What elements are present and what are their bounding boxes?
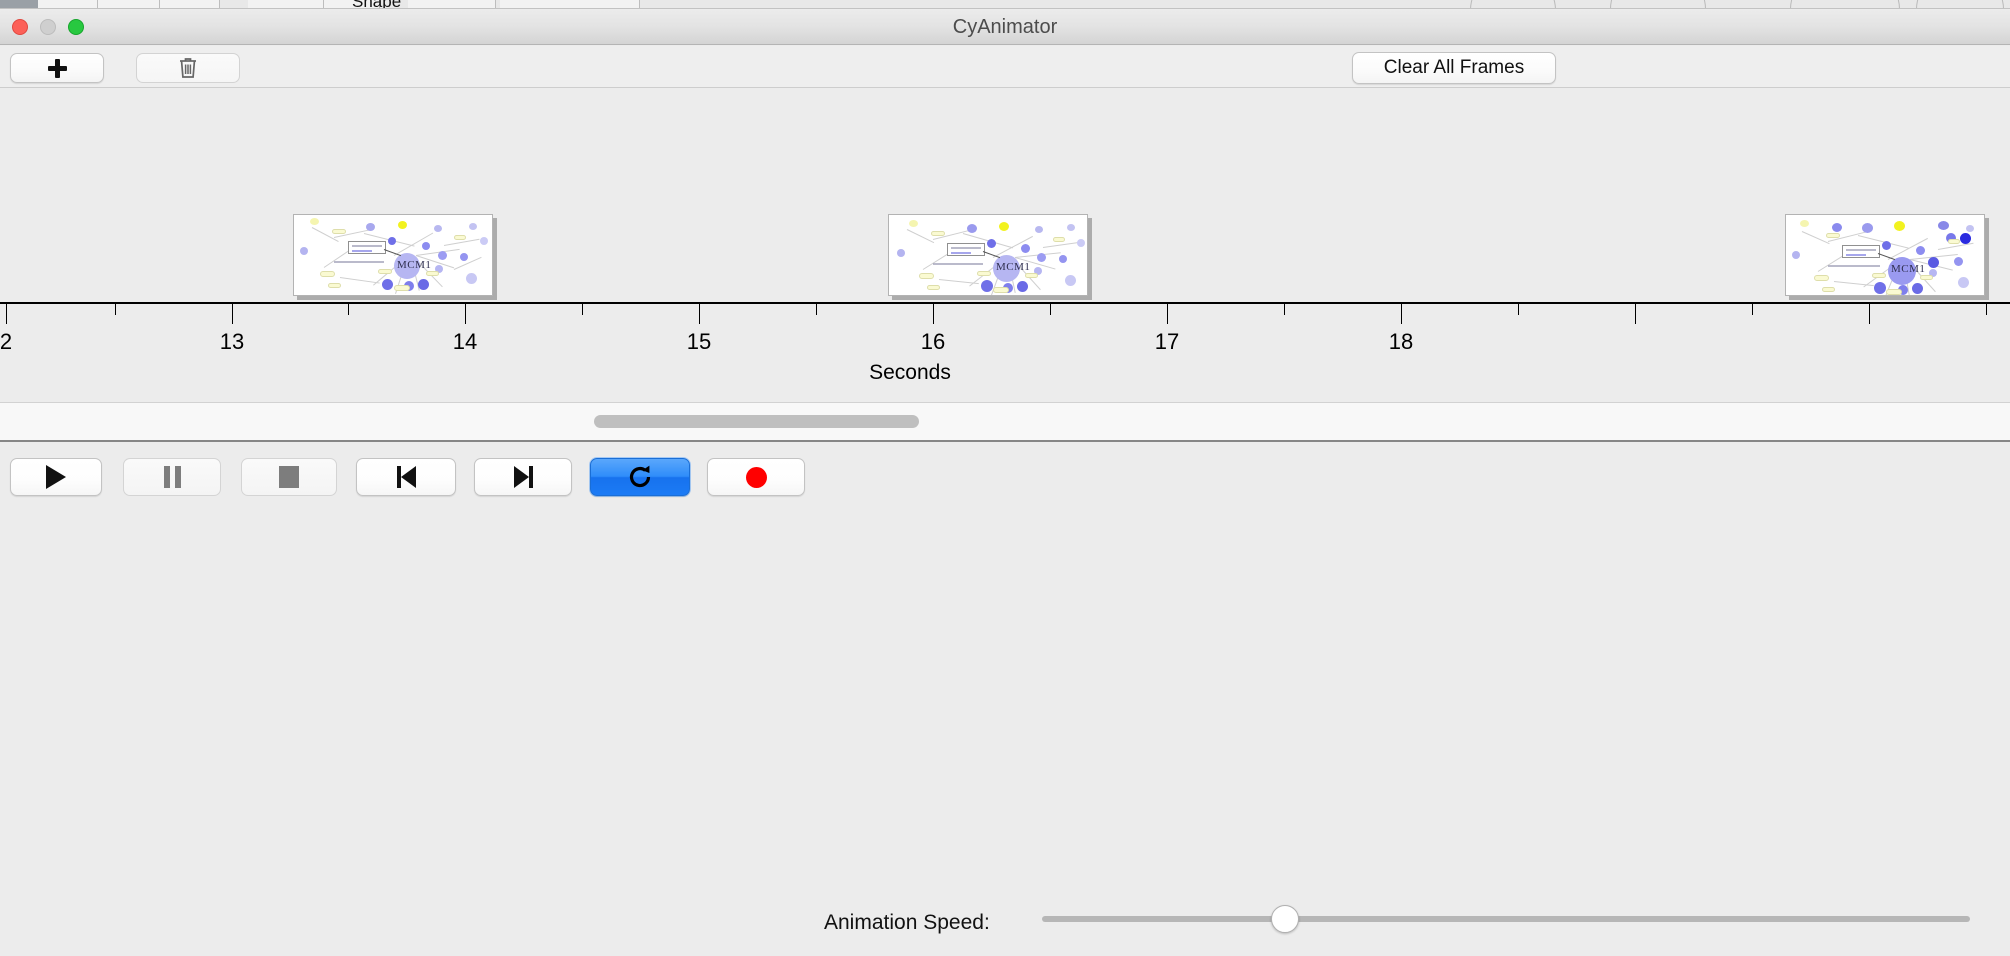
clear-all-frames-label: Clear All Frames <box>1384 57 1524 79</box>
timeline-scrollbar-track[interactable] <box>0 402 2010 442</box>
axis-tick-minor <box>348 304 349 315</box>
axis-tick-major <box>1401 304 1402 324</box>
axis-tick-label: 2 <box>0 329 12 355</box>
skip-back-icon <box>397 466 416 488</box>
axis-tick-minor <box>1752 304 1753 315</box>
clear-all-frames-button[interactable]: Clear All Frames <box>1352 52 1556 84</box>
loop-button[interactable] <box>590 458 690 496</box>
background-window-strip: Shape <box>0 0 2010 9</box>
axis-tick-major <box>1635 304 1636 324</box>
timeline-frame-thumbnail[interactable]: MCM1 <box>293 214 493 296</box>
timeline-frame-thumbnail[interactable]: MCM1 <box>1785 214 1985 296</box>
axis-tick-major <box>465 304 466 324</box>
axis-tick-major <box>1167 304 1168 324</box>
axis-tick-minor <box>1986 304 1987 315</box>
axis-tick-label: 13 <box>220 329 244 355</box>
add-frame-button[interactable] <box>10 53 104 83</box>
axis-title: Seconds <box>0 361 2010 385</box>
frame-hub-label: MCM1 <box>1891 263 1925 275</box>
timeline-panel[interactable]: MCM1 <box>0 89 2010 402</box>
axis-tick-minor <box>1050 304 1051 315</box>
axis-tick-major <box>1869 304 1870 324</box>
animation-speed-slider-track[interactable] <box>1042 916 1970 922</box>
axis-tick-label: 14 <box>453 329 477 355</box>
axis-tick-major <box>232 304 233 324</box>
axis-tick-minor <box>582 304 583 315</box>
timeline-axis <box>0 302 2010 304</box>
animation-speed-slider-thumb[interactable] <box>1271 905 1299 933</box>
timeline-frame-thumbnail[interactable]: MCM1 <box>888 214 1088 296</box>
axis-tick-major <box>933 304 934 324</box>
frame-hub-label: MCM1 <box>996 261 1030 273</box>
stop-icon <box>279 466 299 488</box>
transport-bar: Animation Speed: <box>0 444 2010 510</box>
axis-tick-label: 17 <box>1155 329 1179 355</box>
axis-tick-label: 15 <box>687 329 711 355</box>
record-button[interactable] <box>707 458 805 496</box>
axis-tick-minor <box>1284 304 1285 315</box>
axis-tick-label: 16 <box>921 329 945 355</box>
axis-tick-major <box>6 304 7 324</box>
play-icon <box>46 465 66 489</box>
last-frame-button[interactable] <box>474 458 572 496</box>
plus-icon <box>48 59 67 78</box>
axis-tick-minor <box>816 304 817 315</box>
axis-tick-minor <box>115 304 116 315</box>
trash-icon <box>177 56 199 80</box>
pause-button[interactable] <box>123 458 221 496</box>
axis-tick-label: 18 <box>1389 329 1413 355</box>
animation-speed-label: Animation Speed: <box>824 890 990 956</box>
pause-icon <box>164 466 181 488</box>
loop-icon <box>626 463 654 491</box>
frame-hub-label: MCM1 <box>397 259 431 271</box>
skip-forward-icon <box>514 466 533 488</box>
axis-tick-major <box>699 304 700 324</box>
first-frame-button[interactable] <box>356 458 456 496</box>
record-icon <box>746 467 767 488</box>
axis-tick-minor <box>1518 304 1519 315</box>
axis-title-text: Seconds <box>869 361 951 384</box>
timeline-scrollbar-thumb[interactable] <box>594 415 919 428</box>
frame-toolbar: Clear All Frames <box>0 46 2010 88</box>
window-title-bar: CyAnimator <box>0 9 2010 45</box>
play-button[interactable] <box>10 458 102 496</box>
delete-frame-button[interactable] <box>136 53 240 83</box>
window-title: CyAnimator <box>0 9 2010 45</box>
stop-button[interactable] <box>241 458 337 496</box>
